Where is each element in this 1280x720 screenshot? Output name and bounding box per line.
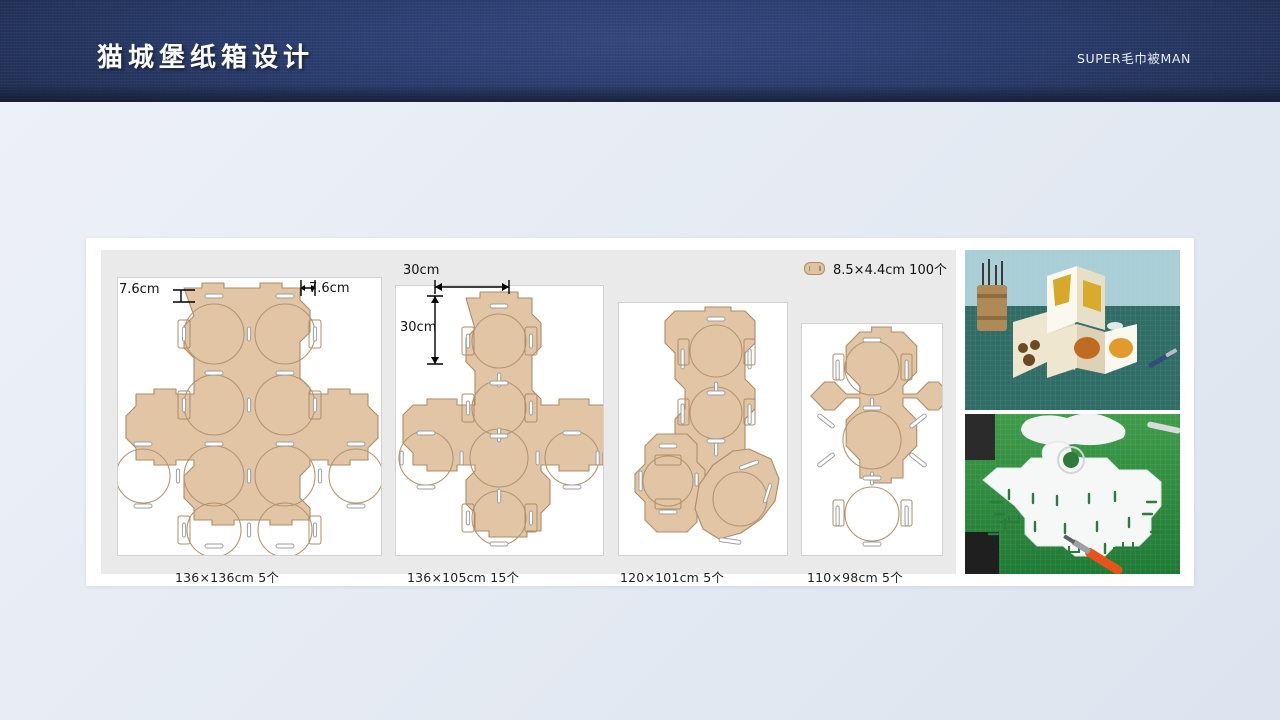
diecut-drawing-1	[118, 278, 381, 555]
handle-spec-label: 8.5×4.4cm 100个	[833, 259, 947, 278]
diecut-panel-4[interactable]	[801, 323, 943, 556]
caption-diecut-3: 120×101cm 5个	[620, 567, 724, 586]
brand-label: SUPER毛巾被MAN	[1077, 48, 1191, 67]
diecut-panel-3[interactable]	[618, 302, 788, 556]
dimension-label-top-tab: 7.6cm	[309, 281, 350, 296]
caption-diecut-4: 110×98cm 5个	[807, 567, 903, 586]
caption-row: 136×136cm 5个 136×105cm 15个 120×101cm 5个 …	[101, 557, 956, 593]
photo-flat-prototype[interactable]	[965, 414, 1180, 574]
photo-assembled-boxes[interactable]	[965, 250, 1180, 410]
handle-slot-icon	[804, 262, 825, 275]
handle-spec: 8.5×4.4cm 100个	[804, 259, 947, 278]
diecut-drawing-4	[802, 324, 942, 555]
page-title: 猫城堡纸箱设计	[97, 37, 314, 74]
content-panel: 7.6cm 7.6cm 30cm 30cm 8.5×4.4cm 100个 136…	[86, 238, 1194, 586]
dimension-label-left-height: 7.6cm	[119, 282, 160, 297]
photo-assembled-boxes-image	[965, 250, 1180, 410]
caption-diecut-1: 136×136cm 5个	[175, 567, 279, 586]
photo-column	[965, 250, 1180, 574]
caption-diecut-2: 136×105cm 15个	[407, 567, 519, 586]
diecut-panel-1[interactable]	[117, 277, 382, 556]
dimension-label-panel2-width: 30cm	[403, 263, 439, 278]
photo-flat-prototype-image	[965, 414, 1180, 574]
diecut-drawing-3	[619, 303, 787, 555]
dimension-label-panel2-height: 30cm	[400, 320, 436, 335]
page-header: 猫城堡纸箱设计 SUPER毛巾被MAN	[0, 0, 1280, 102]
diecut-sheet-area: 7.6cm 7.6cm 30cm 30cm 8.5×4.4cm 100个 136…	[101, 250, 956, 574]
